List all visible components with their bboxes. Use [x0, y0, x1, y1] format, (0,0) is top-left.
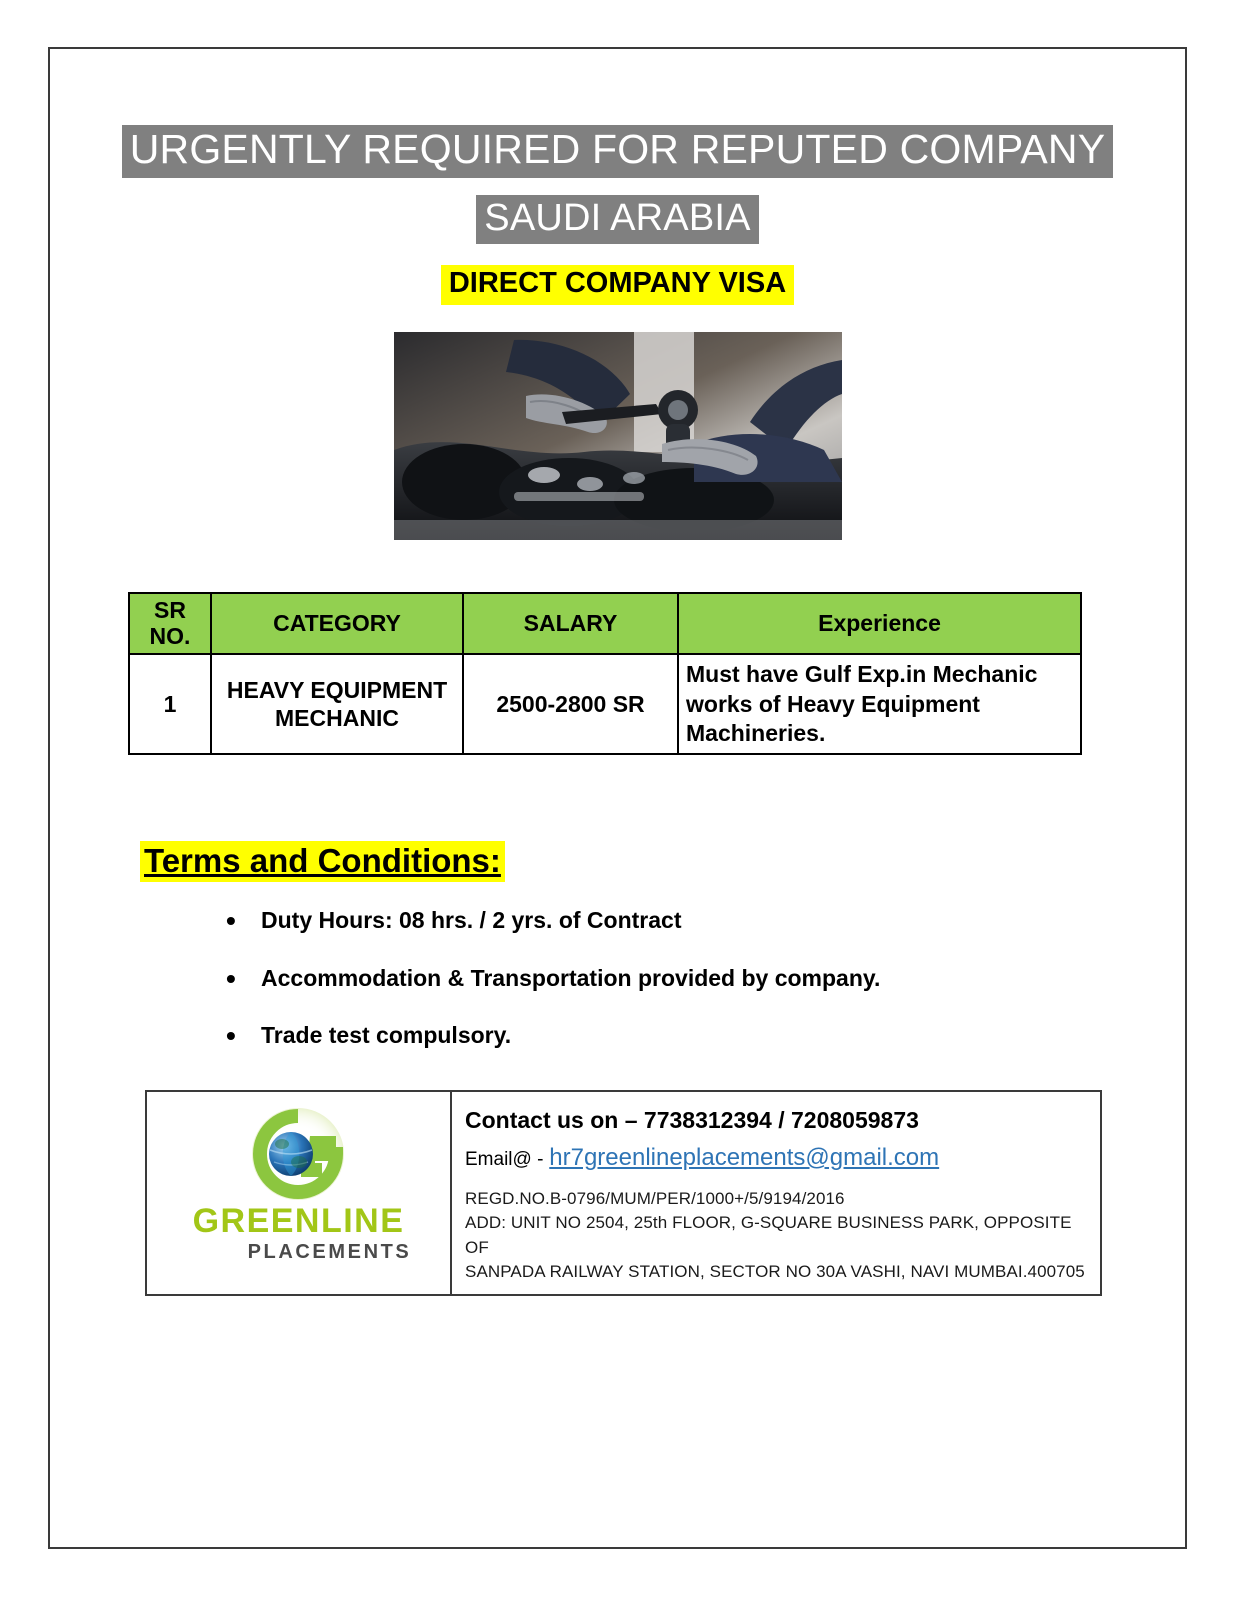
- page-content: URGENTLY REQUIRED FOR REPUTED COMPANY SA…: [48, 47, 1187, 1549]
- contact-phone-line: Contact us on – 7738312394 / 7208059873: [465, 1106, 1090, 1135]
- column-header-salary: SALARY: [463, 593, 678, 655]
- terms-heading: Terms and Conditions:: [140, 841, 505, 882]
- list-item: Trade test compulsory.: [226, 1022, 1187, 1050]
- visa-badge: DIRECT COMPANY VISA: [441, 265, 794, 304]
- cell-category: HEAVY EQUIPMENT MECHANIC: [211, 654, 463, 754]
- contact-info-cell: Contact us on – 7738312394 / 7208059873 …: [451, 1091, 1101, 1295]
- column-header-sr-no: SR NO.: [129, 593, 211, 655]
- page-title: URGENTLY REQUIRED FOR REPUTED COMPANY: [122, 125, 1114, 178]
- address-line-2: SANPADA RAILWAY STATION, SECTOR NO 30A V…: [465, 1260, 1090, 1284]
- title-block: URGENTLY REQUIRED FOR REPUTED COMPANY: [48, 125, 1187, 178]
- logo-name: GREENLINE: [186, 1204, 412, 1240]
- footer-table: GREENLINE PLACEMENTS Contact us on – 773…: [145, 1090, 1102, 1296]
- logo-tagline: PLACEMENTS: [186, 1241, 412, 1264]
- photo-block: [48, 332, 1187, 545]
- table-header-row: SR NO. CATEGORY SALARY Experience: [129, 593, 1081, 655]
- list-item: Duty Hours: 08 hrs. / 2 yrs. of Contract: [226, 907, 1187, 935]
- cell-sr-no: 1: [129, 654, 211, 754]
- contact-email-line: Email@ - hr7greenlineplacements@gmail.co…: [465, 1142, 1090, 1173]
- email-link[interactable]: hr7greenlineplacements@gmail.com: [549, 1144, 939, 1171]
- column-header-experience: Experience: [678, 593, 1081, 655]
- mechanic-photo: [394, 332, 842, 540]
- logo-cell: GREENLINE PLACEMENTS: [146, 1091, 451, 1295]
- sr-label-line1: SR: [154, 597, 186, 623]
- jobs-table-wrapper: SR NO. CATEGORY SALARY Experience 1 HEAV…: [128, 592, 1080, 756]
- sr-label-line2: NO.: [150, 623, 191, 649]
- email-label: Email@ -: [465, 1149, 543, 1170]
- greenline-logo: GREENLINE PLACEMENTS: [186, 1106, 412, 1264]
- footer-contact-block: GREENLINE PLACEMENTS Contact us on – 773…: [145, 1090, 1100, 1296]
- list-item: Accommodation & Transportation provided …: [226, 965, 1187, 993]
- cell-experience: Must have Gulf Exp.in Mechanic works of …: [678, 654, 1081, 754]
- country-block: SAUDI ARABIA: [48, 195, 1187, 245]
- jobs-table: SR NO. CATEGORY SALARY Experience 1 HEAV…: [128, 592, 1082, 756]
- flyer-page: URGENTLY REQUIRED FOR REPUTED COMPANY SA…: [0, 0, 1236, 1599]
- visa-block: DIRECT COMPANY VISA: [48, 265, 1187, 304]
- table-row: 1 HEAVY EQUIPMENT MECHANIC 2500-2800 SR …: [129, 654, 1081, 754]
- address-line-1: ADD: UNIT NO 2504, 25th FLOOR, G-SQUARE …: [465, 1211, 1090, 1260]
- terms-list: Duty Hours: 08 hrs. / 2 yrs. of Contract…: [226, 907, 1187, 1050]
- column-header-category: CATEGORY: [211, 593, 463, 655]
- registration-number: REGD.NO.B-0796/MUM/PER/1000+/5/9194/2016: [465, 1187, 1090, 1211]
- terms-heading-block: Terms and Conditions:: [140, 841, 1187, 882]
- country-title: SAUDI ARABIA: [476, 195, 758, 245]
- cell-salary: 2500-2800 SR: [463, 654, 678, 754]
- green-g-globe-logo-icon: [244, 1106, 352, 1202]
